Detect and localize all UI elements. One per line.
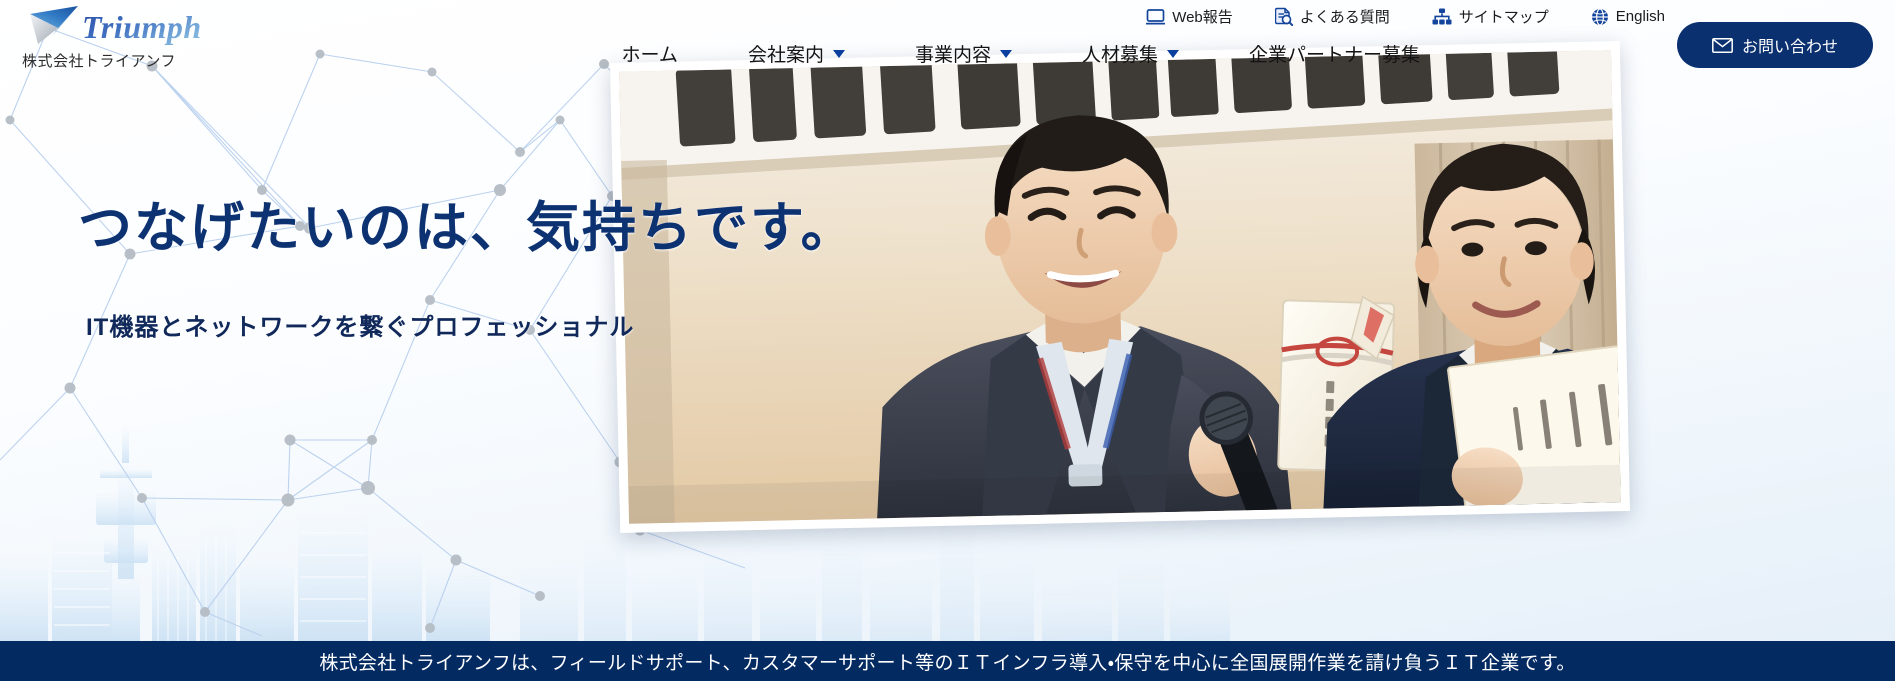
chevron-down-icon	[1167, 50, 1179, 58]
nav-item-label: ホーム	[622, 40, 678, 67]
chevron-down-icon	[833, 50, 845, 58]
main-nav: ホーム 会社案内 事業内容 人材募集 企業パートナー募集	[587, 40, 1456, 67]
nav-item-label: 会社案内	[748, 40, 824, 67]
triumph-arrow-logo-icon: Triumph	[22, 4, 218, 48]
nav-item-corporate-partner[interactable]: 企業パートナー募集	[1214, 40, 1455, 67]
utility-nav-item-faq[interactable]: よくある質問	[1275, 6, 1390, 27]
bottom-tagline-text: 株式会社トライアンフは、フィールドサポート、カスタマーサポート等のＩＴインフラ導…	[319, 648, 1575, 675]
utility-nav-item-english[interactable]: English	[1591, 8, 1665, 26]
chevron-down-icon	[1000, 50, 1012, 58]
globe-icon	[1591, 8, 1609, 26]
nav-item-company-info[interactable]: 会社案内	[713, 40, 880, 67]
monitor-icon	[1146, 9, 1165, 25]
svg-text:Triumph: Triumph	[82, 9, 202, 45]
homepage-hero-section: つなげたいのは、気持ちです。 IT機器とネットワークを繋ぐプロフェッショナル	[0, 0, 1895, 681]
sitemap-icon	[1432, 8, 1452, 25]
utility-nav: Web報告 よくある質問	[1146, 6, 1665, 27]
faq-document-search-icon	[1275, 7, 1293, 26]
brand-logo-block[interactable]: Triumph 株式会社トライアンフ	[22, 4, 222, 71]
nav-item-label: 人材募集	[1082, 40, 1158, 67]
utility-nav-item-sitemap[interactable]: サイトマップ	[1432, 6, 1549, 27]
hero-text-block: つなげたいのは、気持ちです。 IT機器とネットワークを繋ぐプロフェッショナル	[78, 196, 857, 342]
utility-nav-label: よくある質問	[1300, 6, 1390, 27]
utility-nav-item-web-report[interactable]: Web報告	[1146, 6, 1233, 27]
nav-item-label: 企業パートナー募集	[1249, 40, 1420, 67]
hero-subtitle: IT機器とネットワークを繋ぐプロフェッショナル	[86, 307, 857, 342]
company-name: 株式会社トライアンフ	[22, 50, 222, 71]
nav-item-recruitment[interactable]: 人材募集	[1047, 40, 1214, 67]
contact-button[interactable]: お問い合わせ	[1677, 22, 1873, 68]
hero-title: つなげたいのは、気持ちです。	[78, 196, 857, 261]
utility-nav-label: サイトマップ	[1459, 6, 1549, 27]
utility-nav-label: Web報告	[1172, 6, 1233, 27]
bottom-tagline-banner: 株式会社トライアンフは、フィールドサポート、カスタマーサポート等のＩＴインフラ導…	[0, 641, 1895, 681]
nav-item-label: 事業内容	[915, 40, 991, 67]
contact-button-label: お問い合わせ	[1742, 33, 1838, 57]
envelope-icon	[1712, 38, 1733, 53]
utility-nav-label: English	[1616, 8, 1665, 25]
nav-item-business-content[interactable]: 事業内容	[880, 40, 1047, 67]
nav-item-home[interactable]: ホーム	[587, 40, 713, 67]
